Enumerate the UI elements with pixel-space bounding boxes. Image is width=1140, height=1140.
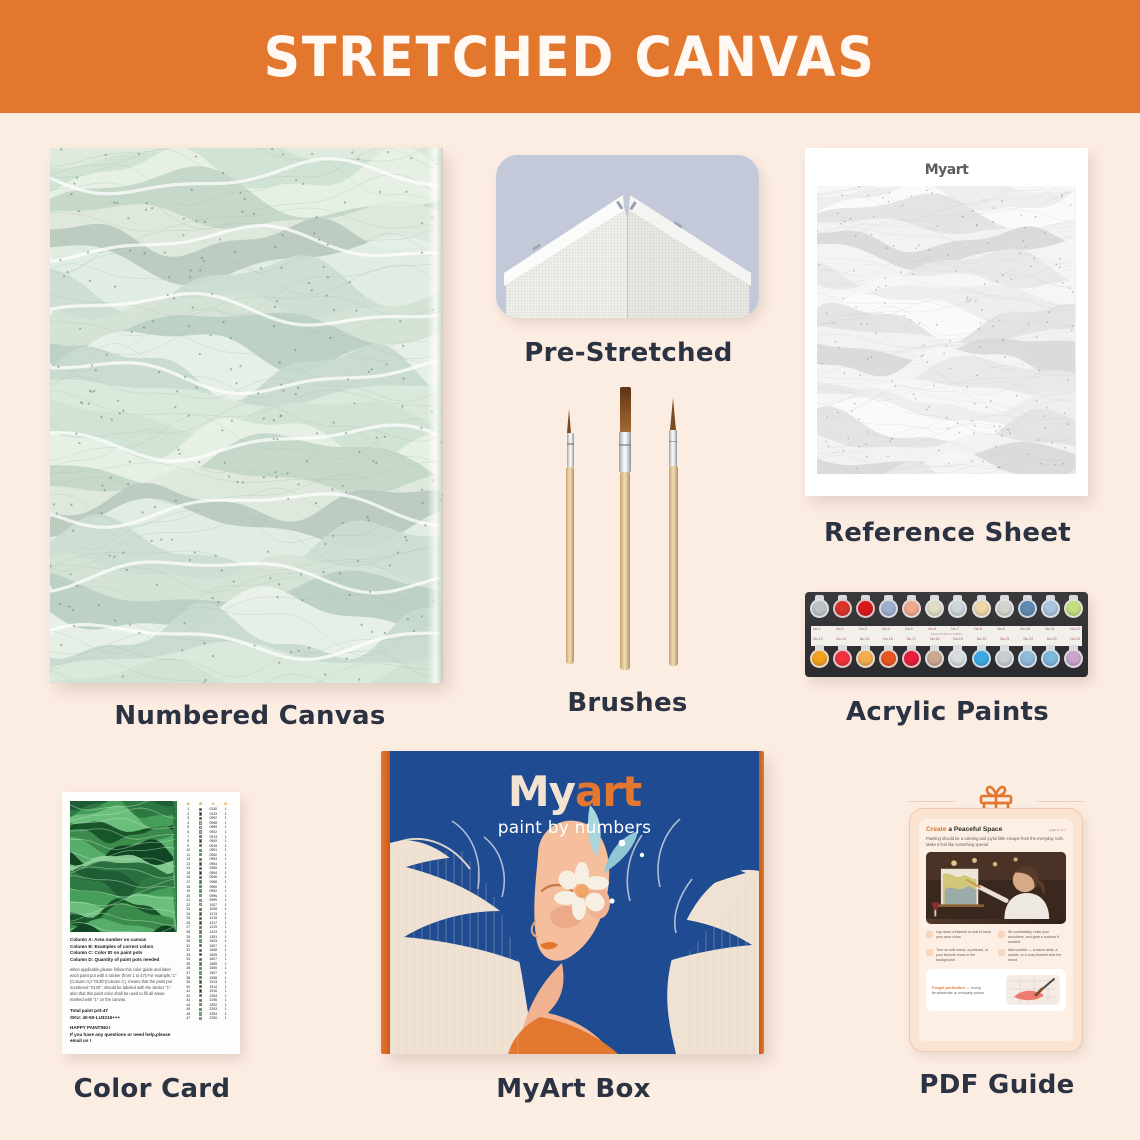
paint-pot — [832, 597, 853, 625]
cell-area-number: 12 — [182, 857, 195, 861]
cell-area-number: 39 — [182, 980, 195, 984]
paint-pot-lid — [948, 649, 967, 668]
pdf-photo-illustration — [926, 852, 1066, 919]
paint-label-number: No.14 — [836, 637, 846, 642]
cell-quantity: 1 — [220, 921, 233, 925]
cell-quantity: 1 — [220, 985, 233, 989]
cell-area-number: 43 — [182, 998, 195, 1002]
cell-quantity: 1 — [220, 857, 233, 861]
cell-color-id: 1505 — [207, 953, 220, 957]
reference-sheet-logo: Myart — [817, 162, 1076, 178]
canvas-side-edge — [427, 148, 443, 683]
cell-area-number: 40 — [182, 985, 195, 989]
cell-quantity: 1 — [220, 898, 233, 902]
cell-color-swatch — [195, 962, 208, 965]
paint-pot-lid — [925, 649, 944, 668]
cell-color-id: 1217 — [207, 921, 220, 925]
help-line: If you have any questions or need help,p… — [70, 1032, 177, 1045]
cell-quantity: 1 — [220, 830, 233, 834]
cell-area-number: 36 — [182, 966, 195, 970]
cell-color-id: 1508 — [207, 948, 220, 952]
paint-label-number: No.21 — [1000, 637, 1010, 642]
cell-color-swatch — [195, 944, 208, 947]
cell-quantity: 1 — [220, 966, 233, 970]
pdf-tip-icon — [926, 949, 933, 956]
cell-color-swatch — [195, 871, 208, 874]
cell-quantity: 1 — [220, 812, 233, 816]
cell-color-id: 0996 — [207, 894, 220, 898]
cell-color-swatch — [195, 808, 208, 811]
page-title: STRETCHED CANVAS — [264, 25, 876, 89]
cell-color-id: 1213 — [207, 912, 220, 916]
cell-color-id: 2292 — [207, 1003, 220, 1007]
cell-quantity: 1 — [220, 885, 233, 889]
cell-area-number: 22 — [182, 903, 195, 907]
cell-area-number: 47 — [182, 1016, 195, 1020]
cell-color-id: 0999 — [207, 898, 220, 902]
pdf-rule-right — [1037, 801, 1083, 802]
paint-pot-lid — [902, 649, 921, 668]
caption-myart-box: MyArt Box — [381, 1074, 766, 1104]
numbered-canvas-image — [50, 148, 443, 683]
pdf-tip: Add comfort — a warm drink, a candle, or… — [998, 948, 1065, 963]
cell-quantity: 1 — [220, 862, 233, 866]
cell-quantity: 1 — [220, 998, 233, 1002]
cell-color-swatch — [195, 1017, 208, 1020]
paint-pot-lid — [1064, 649, 1083, 668]
box-logo-art: art — [575, 767, 641, 816]
brush-bristles — [620, 387, 631, 432]
cell-color-swatch — [195, 839, 208, 842]
cell-color-swatch — [195, 921, 208, 924]
cell-color-id: 0902 — [207, 830, 220, 834]
pdf-header: Create a Peaceful Space page 1 of 1 — [926, 826, 1066, 833]
cell-color-id: 0989 — [207, 825, 220, 829]
cell-area-number: 15 — [182, 871, 195, 875]
cell-color-swatch — [195, 912, 208, 915]
cell-color-id: 0946 — [207, 875, 220, 879]
cell-area-number: 27 — [182, 925, 195, 929]
cell-color-swatch — [195, 899, 208, 902]
cell-color-id: 1914 — [207, 985, 220, 989]
cell-area-number: 20 — [182, 894, 195, 898]
cell-color-id: 1303 — [207, 935, 220, 939]
pdf-tip-text: Add comfort — a warm drink, a candle, or… — [1008, 948, 1065, 963]
product-pdf-guide: Create a Peaceful Space page 1 of 1 Pain… — [903, 780, 1091, 1100]
pdf-photo — [926, 852, 1066, 924]
cell-area-number: 1 — [182, 807, 195, 811]
cell-quantity: 1 — [220, 989, 233, 993]
caption-color-card: Color Card — [62, 1074, 242, 1104]
product-brushes: Brushes — [535, 385, 720, 718]
cell-area-number: 44 — [182, 1003, 195, 1007]
paint-pot-lid — [879, 599, 898, 618]
cell-color-swatch — [195, 894, 208, 897]
th-b: B — [195, 801, 208, 806]
cell-color-swatch — [195, 930, 208, 933]
reference-wave-pattern — [817, 186, 1076, 474]
cell-quantity: 1 — [220, 925, 233, 929]
cell-color-swatch — [195, 985, 208, 988]
cell-area-number: 28 — [182, 930, 195, 934]
box-tagline: paint by numbers — [390, 818, 759, 838]
cell-quantity: 1 — [220, 994, 233, 998]
cell-quantity: 1 — [220, 976, 233, 980]
paint-pot-lid — [948, 599, 967, 618]
cell-color-id: 1569 — [207, 962, 220, 966]
cell-color-id: 1007 — [207, 903, 220, 907]
cell-area-number: 32 — [182, 948, 195, 952]
paint-pot — [971, 647, 992, 675]
cell-area-number: 29 — [182, 935, 195, 939]
paint-label-strip: No.1No.2No.3No.4No.5No.6No.7No.8No.9No.1… — [811, 626, 1082, 646]
cell-quantity: 1 — [220, 844, 233, 848]
paint-pot — [855, 597, 876, 625]
paint-pot-lid — [902, 599, 921, 618]
cell-color-id: 1219 — [207, 925, 220, 929]
product-myart-box: Myart paint by numbers MyArt Box — [381, 751, 766, 1104]
pdf-tip-text: Sit comfortably, relax your shoulders, a… — [1008, 930, 1065, 945]
brush-bristles — [670, 398, 676, 430]
paint-pot — [1063, 647, 1084, 675]
cell-color-id: 2154 — [207, 994, 220, 998]
cell-color-id: 1915 — [207, 989, 220, 993]
caption-acrylic-paints: Acrylic Paints — [805, 697, 1090, 727]
pdf-rule-left — [909, 801, 955, 802]
paint-pot-lid — [1064, 599, 1083, 618]
box-left-edge — [381, 751, 390, 1054]
paint-pot — [971, 597, 992, 625]
paint-pot — [1017, 597, 1038, 625]
cell-quantity: 1 — [220, 835, 233, 839]
pdf-tip: Sit comfortably, relax your shoulders, a… — [998, 930, 1065, 945]
color-card-wave-pattern — [70, 801, 177, 932]
pdf-title-accent: Create — [926, 826, 947, 833]
paint-pot — [901, 597, 922, 625]
reference-sheet-artwork — [817, 186, 1076, 474]
cell-area-number: 34 — [182, 957, 195, 961]
cell-color-id: 0913 — [207, 835, 220, 839]
cell-color-id: 1913 — [207, 980, 220, 984]
cell-area-number: 13 — [182, 862, 195, 866]
cell-area-number: 38 — [182, 976, 195, 980]
paint-pot-lid — [833, 599, 852, 618]
paint-pot — [878, 647, 899, 675]
cell-quantity: 1 — [220, 866, 233, 870]
product-reference-sheet: Myart Reference Sheet — [805, 148, 1090, 548]
sku-label: SKU: 40-50-LU3216+++ — [70, 1015, 177, 1022]
paint-label-number: No.10 — [1020, 627, 1030, 632]
cell-area-number: 37 — [182, 971, 195, 975]
cell-color-swatch — [195, 903, 208, 906]
paint-pot — [832, 647, 853, 675]
cell-color-id: 0130 — [207, 807, 220, 811]
cell-quantity: 1 — [220, 889, 233, 893]
pdf-tip: Lay down a blanket or mat to keep your a… — [926, 930, 993, 945]
cell-color-swatch — [195, 876, 208, 879]
color-card-left-column: Column A: Area number on canvas Column B… — [70, 801, 177, 1045]
color-card-legend: Column A: Area number on canvas Column B… — [70, 937, 177, 963]
cell-area-number: 21 — [182, 898, 195, 902]
pdf-title: Create a Peaceful Space — [926, 826, 1002, 833]
pdf-footer-thumb — [1006, 975, 1060, 1005]
paint-pot-lid — [833, 649, 852, 668]
caption-numbered-canvas: Numbered Canvas — [50, 701, 450, 731]
brushes-image — [535, 385, 720, 670]
pdf-page-label: page 1 of 1 — [1049, 828, 1066, 832]
pdf-footer-text: Forget perfection — every brushstroke is… — [932, 985, 1001, 996]
cell-color-swatch — [195, 830, 208, 833]
paint-label-number: No.5 — [905, 627, 913, 632]
paint-pot-lid — [972, 599, 991, 618]
cell-color-id: 0992 — [207, 889, 220, 893]
cell-quantity: 1 — [220, 816, 233, 820]
cell-color-swatch — [195, 826, 208, 829]
paint-pot — [1017, 647, 1038, 675]
brush-ferrule — [619, 432, 631, 472]
cell-color-swatch — [195, 867, 208, 870]
cell-color-swatch — [195, 939, 208, 942]
cell-color-swatch — [195, 885, 208, 888]
cell-quantity: 1 — [220, 939, 233, 943]
box-logo-my: My — [508, 767, 575, 816]
cell-color-id: 1215 — [207, 916, 220, 920]
cell-color-id: 0951 — [207, 848, 220, 852]
paint-pot — [878, 597, 899, 625]
cell-color-id: 0952 — [207, 853, 220, 857]
cell-area-number: 11 — [182, 853, 195, 857]
paint-pot — [809, 647, 830, 675]
cell-area-number: 3 — [182, 816, 195, 820]
pdf-tip-text: Turn on soft music, a podcast, or your f… — [936, 948, 993, 963]
cell-area-number: 2 — [182, 812, 195, 816]
pdf-tip-text: Lay down a blanket or mat to keep your a… — [936, 930, 993, 945]
cell-quantity: 1 — [220, 853, 233, 857]
caption-pdf-guide: PDF Guide — [903, 1070, 1091, 1100]
paint-label-number: No.19 — [953, 637, 963, 642]
color-card-table: A B C D 10130120133130992140998150989160… — [182, 801, 232, 1045]
cell-color-id: 0909 — [207, 839, 220, 843]
cell-quantity: 1 — [220, 1012, 233, 1016]
total-paint-pot: Total paint pot:47 — [70, 1008, 177, 1015]
color-card-instructions: when applicable,please follow this color… — [70, 967, 177, 1003]
paint-label-number: No.18 — [930, 637, 940, 642]
pdf-footer: Forget perfection — every brushstroke is… — [926, 969, 1066, 1011]
paint-pot-lid — [856, 649, 875, 668]
caption-brushes: Brushes — [535, 688, 720, 718]
cell-color-swatch — [195, 953, 208, 956]
cell-color-swatch — [195, 862, 208, 865]
cell-quantity: 1 — [220, 962, 233, 966]
reference-sheet-image: Myart — [805, 148, 1088, 496]
color-card-table-header: A B C D — [182, 801, 232, 806]
cell-color-swatch — [195, 926, 208, 929]
cell-area-number: 14 — [182, 866, 195, 870]
cell-color-id: 0955 — [207, 866, 220, 870]
paint-label-number: No.24 — [1070, 637, 1080, 642]
cell-quantity: 1 — [220, 807, 233, 811]
cell-quantity: 1 — [220, 894, 233, 898]
cell-color-id: 1908 — [207, 976, 220, 980]
cell-quantity: 1 — [220, 821, 233, 825]
cell-color-swatch — [195, 812, 208, 815]
cell-color-swatch — [195, 958, 208, 961]
cell-color-swatch — [195, 908, 208, 911]
cell-area-number: 8 — [182, 839, 195, 843]
th-d: D — [220, 801, 233, 806]
product-acrylic-paints: No.1No.2No.3No.4No.5No.6No.7No.8No.9No.1… — [805, 592, 1090, 727]
pdf-subtitle: Painting should be a calming and joyful … — [926, 836, 1066, 847]
product-numbered-canvas: Numbered Canvas — [50, 148, 450, 731]
color-card-image: Column A: Area number on canvas Column B… — [62, 792, 240, 1054]
happy-painting: HAPPY PAINTING! — [70, 1025, 177, 1032]
cell-color-id: 2293 — [207, 1007, 220, 1011]
paint-pot-lid — [972, 649, 991, 668]
paint-label-number: No.9 — [997, 627, 1005, 632]
paint-label-number: No.1 — [813, 627, 821, 632]
page-header: STRETCHED CANVAS — [0, 0, 1140, 113]
cell-quantity: 1 — [220, 848, 233, 852]
paint-label-number: No.20 — [977, 637, 987, 642]
pdf-tip-icon — [926, 931, 933, 938]
cell-quantity: 1 — [220, 944, 233, 948]
cell-area-number: 24 — [182, 912, 195, 916]
paint-pot-lid — [1041, 649, 1060, 668]
cell-color-id: 0992 — [207, 816, 220, 820]
paint-tray: No.1No.2No.3No.4No.5No.6No.7No.8No.9No.1… — [805, 592, 1088, 677]
paint-pot-lid — [879, 649, 898, 668]
canvas-wave-pattern — [50, 148, 443, 683]
cell-color-swatch — [195, 849, 208, 852]
cell-color-swatch — [195, 989, 208, 992]
brush-flat — [615, 387, 635, 670]
paint-pot-lid — [995, 649, 1014, 668]
pdf-tip: Turn on soft music, a podcast, or your f… — [926, 948, 993, 963]
cell-color-swatch — [195, 994, 208, 997]
cell-area-number: 17 — [182, 880, 195, 884]
box-logo: Myart paint by numbers — [390, 767, 759, 838]
cell-color-swatch — [195, 880, 208, 883]
cell-color-swatch — [195, 1008, 208, 1011]
cell-color-id: 1507 — [207, 971, 220, 975]
paint-pot — [1040, 597, 1061, 625]
cell-color-swatch — [195, 1012, 208, 1015]
myart-box-image: Myart paint by numbers — [381, 751, 764, 1054]
legend-line-d: Column D: Quantity of paint pots needed — [70, 957, 177, 963]
cell-area-number: 7 — [182, 835, 195, 839]
cell-color-id: 1008 — [207, 907, 220, 911]
cell-area-number: 16 — [182, 875, 195, 879]
paint-pot — [924, 597, 945, 625]
cell-color-id: 1223 — [207, 930, 220, 934]
cell-color-id: 0915 — [207, 844, 220, 848]
pdf-tips-list: Lay down a blanket or mat to keep your a… — [926, 930, 1066, 963]
paint-label-number: No.11 — [1045, 627, 1054, 632]
cell-color-id: 0964 — [207, 871, 220, 875]
paint-pot — [924, 647, 945, 675]
pdf-footer-accent: Forget perfection — [932, 985, 965, 990]
cell-color-swatch — [195, 858, 208, 861]
cell-color-swatch — [195, 821, 208, 824]
paint-pot — [901, 647, 922, 675]
product-color-card: Column A: Area number on canvas Column B… — [62, 792, 242, 1104]
color-card-footer: Total paint pot:47 SKU: 40-50-LU3216+++ … — [70, 1008, 177, 1045]
th-a: A — [182, 801, 195, 806]
paint-label-number: No.22 — [1024, 637, 1034, 642]
cell-quantity: 1 — [220, 971, 233, 975]
cell-color-swatch — [195, 999, 208, 1002]
color-card-artwork — [70, 801, 177, 932]
cell-color-swatch — [195, 917, 208, 920]
paint-pot-lid — [856, 599, 875, 618]
brush-round — [665, 398, 681, 666]
cell-color-swatch — [195, 817, 208, 820]
cell-color-id: 1506 — [207, 966, 220, 970]
brush-ferrule — [669, 430, 677, 466]
cell-color-id: 0998 — [207, 821, 220, 825]
th-c: C — [207, 801, 220, 806]
paint-label-number: No.8 — [974, 627, 982, 632]
cell-area-number: 9 — [182, 844, 195, 848]
brush-handle — [566, 467, 574, 664]
cell-quantity: 1 — [220, 1003, 233, 1007]
cell-quantity: 1 — [220, 948, 233, 952]
cell-quantity: 1 — [220, 1007, 233, 1011]
cell-area-number: 26 — [182, 921, 195, 925]
cell-quantity: 1 — [220, 825, 233, 829]
cell-quantity: 1 — [220, 930, 233, 934]
brush-handle — [620, 472, 630, 670]
paint-pot — [1040, 647, 1061, 675]
paint-pot — [994, 597, 1015, 625]
cell-color-swatch — [195, 835, 208, 838]
cell-color-id: 1507 — [207, 957, 220, 961]
paint-pot — [947, 647, 968, 675]
paint-label-number: No.13 — [813, 637, 823, 642]
cell-color-id: 0968 — [207, 880, 220, 884]
cell-quantity: 1 — [220, 903, 233, 907]
box-front-face: Myart paint by numbers — [390, 751, 759, 1054]
paint-pot-lid — [995, 599, 1014, 618]
pdf-guide-page: Create a Peaceful Space page 1 of 1 Pain… — [919, 819, 1073, 1041]
paint-pot — [994, 647, 1015, 675]
cell-area-number: 31 — [182, 944, 195, 948]
paint-pot-row-top — [809, 597, 1084, 625]
canvas-corner-illustration — [496, 155, 759, 318]
color-card-row: 4722901 — [182, 1016, 232, 1021]
pdf-tip-icon — [998, 931, 1005, 938]
cell-quantity: 1 — [220, 957, 233, 961]
paint-label-number: No.3 — [859, 627, 867, 632]
cell-color-swatch — [195, 976, 208, 979]
pdf-guide-card: Create a Peaceful Space page 1 of 1 Pain… — [909, 808, 1083, 1052]
cell-area-number: 33 — [182, 953, 195, 957]
cell-color-id: 2294 — [207, 1012, 220, 1016]
cell-area-number: 45 — [182, 1007, 195, 1011]
paint-pot — [947, 597, 968, 625]
cell-area-number: 18 — [182, 885, 195, 889]
paint-label-number: No.16 — [883, 637, 893, 642]
cell-area-number: 41 — [182, 989, 195, 993]
cell-quantity: 1 — [220, 916, 233, 920]
brush-handle — [669, 466, 678, 666]
cell-color-id: 0969 — [207, 885, 220, 889]
cell-color-swatch — [195, 844, 208, 847]
paint-label-number: No.2 — [836, 627, 844, 632]
cell-color-swatch — [195, 971, 208, 974]
product-pre-stretched: Pre-Stretched — [496, 155, 761, 368]
paint-pot-lid — [1018, 599, 1037, 618]
